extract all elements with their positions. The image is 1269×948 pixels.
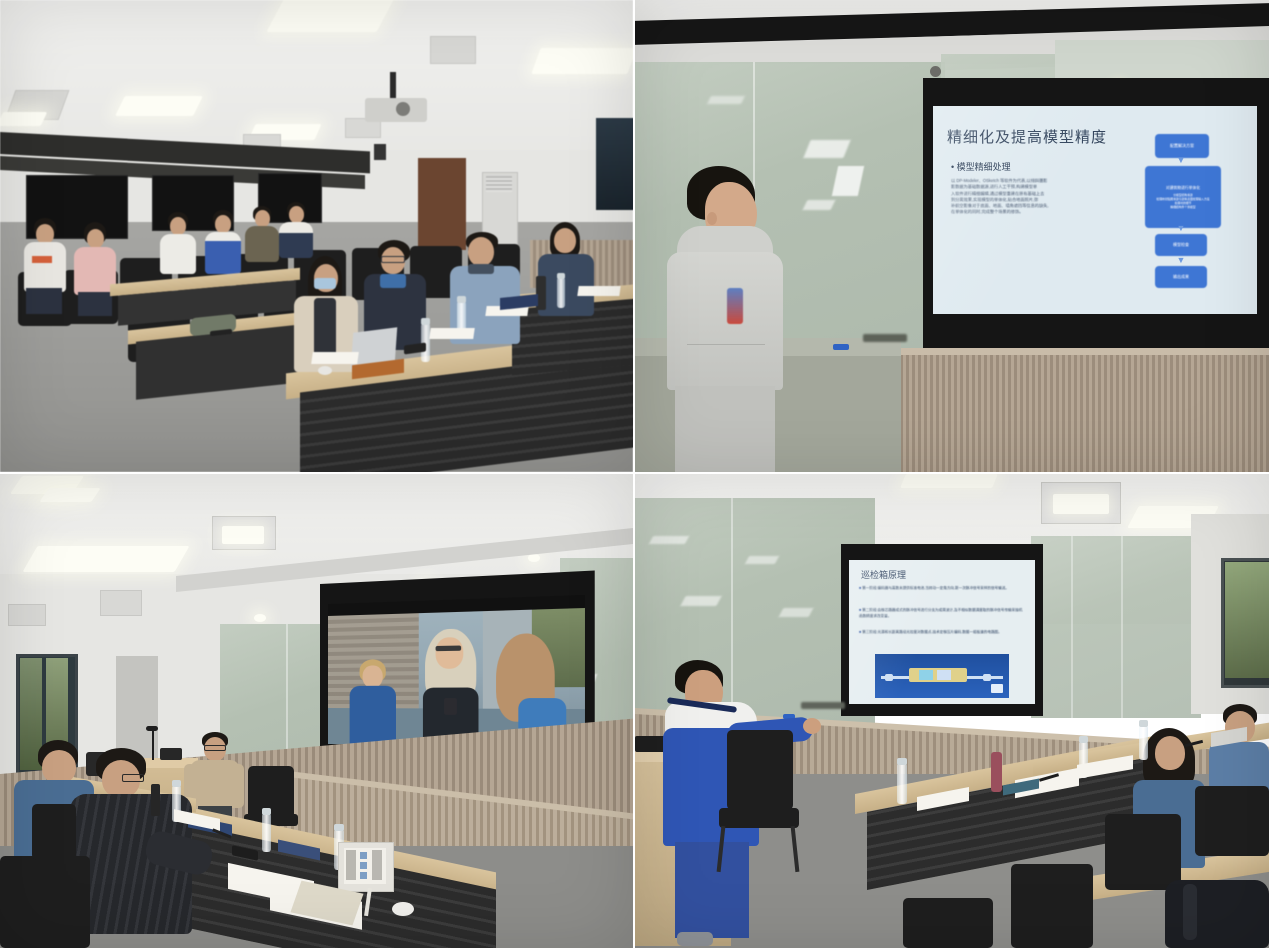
screen-glare xyxy=(933,106,1257,314)
photo-collage: 精细化及提高模型精度 • 模型精细处理 以 DP-Modeler、OSketch… xyxy=(0,0,1269,948)
ceiling-light xyxy=(115,96,203,116)
bottle-cap xyxy=(421,318,430,325)
face-mask xyxy=(314,278,336,289)
torso-navy-jacket xyxy=(538,254,594,316)
person-student-olive-jacket xyxy=(243,206,281,262)
grid-gutter-vertical xyxy=(633,0,635,948)
glasses-icon xyxy=(122,774,144,782)
chair xyxy=(1195,786,1269,856)
ceiling-light xyxy=(1053,494,1109,514)
glass-reflection xyxy=(707,96,745,104)
tablet-screen-thumb xyxy=(360,852,367,859)
ceiling-light xyxy=(531,48,633,74)
water-bottle xyxy=(1139,726,1148,760)
head xyxy=(1155,736,1185,770)
ceiling-vent xyxy=(8,604,46,626)
hand xyxy=(803,718,821,734)
window-glass xyxy=(1225,562,1269,678)
video-person-left xyxy=(350,659,398,745)
ledge-scuff xyxy=(801,702,845,709)
thermos xyxy=(151,784,160,816)
collar xyxy=(468,264,494,274)
glass-seam xyxy=(1121,536,1123,718)
legs-grey-pants xyxy=(675,386,775,474)
hoodie-pocket xyxy=(687,344,765,379)
ceiling-light xyxy=(900,474,998,488)
hoodie-graphic xyxy=(727,288,743,324)
person-student-white-jacket xyxy=(22,218,68,310)
ceiling-light xyxy=(22,546,189,572)
mouse xyxy=(318,366,332,375)
chair xyxy=(0,856,90,948)
torso xyxy=(160,234,196,274)
ceiling-light xyxy=(222,526,264,544)
torso xyxy=(205,232,241,274)
legs xyxy=(78,292,112,316)
head xyxy=(215,215,231,233)
ceiling-spot xyxy=(254,614,266,622)
head xyxy=(255,210,270,227)
glass-partition-wall-right xyxy=(1031,536,1201,718)
chair xyxy=(1105,814,1181,890)
ceiling-light xyxy=(0,112,47,126)
ceiling-vent xyxy=(430,36,476,64)
ac-vent-icon xyxy=(486,176,512,192)
photo-bottom-right: 巡检箱原理 ■ 第一阶段:编码器与高数未提供标准电池,当转动一定角方向,新一次脉… xyxy=(635,474,1269,948)
head xyxy=(87,229,104,248)
bottle-cap xyxy=(897,758,907,765)
photo-top-right: 精细化及提高模型精度 • 模型精细处理 以 DP-Modeler、OSketch… xyxy=(635,0,1269,474)
glass-reflection xyxy=(779,608,814,617)
glasses-icon xyxy=(381,256,405,263)
glass-reflection xyxy=(649,536,689,544)
microphone-head xyxy=(146,726,158,731)
ledge-scuff xyxy=(863,334,907,342)
bottle-cap xyxy=(334,824,344,831)
ceiling-spot xyxy=(528,554,540,562)
legs xyxy=(26,288,62,314)
jacket-stripe xyxy=(32,256,52,263)
photo-bottom-left: 谢谢聆听 Thanks for listening 感谢各位专家、北京交通大学、… xyxy=(0,474,633,948)
wainscot-top-trim xyxy=(897,348,1269,355)
office-chair xyxy=(248,766,294,820)
person-presenter-grey-hoodie xyxy=(663,166,787,474)
torso xyxy=(279,222,313,258)
torso xyxy=(245,226,279,262)
chair xyxy=(1011,864,1093,948)
head xyxy=(170,217,186,235)
bottle-cap xyxy=(457,296,466,303)
water-bottle xyxy=(262,814,271,852)
speaker-icon xyxy=(374,144,386,160)
projector-lens xyxy=(396,102,410,116)
ceiling-spot xyxy=(930,66,941,77)
photo-top-left xyxy=(0,0,633,472)
papers xyxy=(429,328,475,339)
glass-reflection xyxy=(803,140,850,158)
tablet-screen-thumb xyxy=(360,862,367,869)
papers xyxy=(311,352,359,364)
projector-mount xyxy=(390,72,396,100)
video-person-center xyxy=(417,628,483,747)
chair-seat xyxy=(719,808,799,828)
projection-screen: 巡检箱原理 ■ 第一阶段:编码器与高数未提供标准电池,当转动一定角方向,新一次脉… xyxy=(849,560,1035,704)
head xyxy=(36,224,54,244)
water-bottle xyxy=(897,764,907,804)
screen-glare xyxy=(849,560,1035,704)
tablet-screen-sidebar xyxy=(372,850,382,880)
thermos xyxy=(991,752,1002,792)
bottle-cap xyxy=(172,780,181,787)
backpack xyxy=(1165,880,1269,948)
projection-screen: 精细化及提高模型精度 • 模型精细处理 以 DP-Modeler、OSketch… xyxy=(933,106,1257,314)
legs-blue-tracksuit xyxy=(675,842,749,938)
bottle-cap xyxy=(1079,736,1088,743)
window xyxy=(596,118,633,210)
bottle-cap xyxy=(1139,720,1148,727)
head xyxy=(554,228,576,253)
glass-reflection xyxy=(745,556,779,564)
chair xyxy=(903,898,993,948)
glass-reflection xyxy=(803,200,836,210)
head xyxy=(289,206,304,223)
inner-top xyxy=(314,298,336,358)
person-student-blue-tracksuit xyxy=(203,210,243,274)
backpack-strap xyxy=(1183,884,1197,940)
head xyxy=(468,237,494,266)
tablet-screen-thumb xyxy=(360,872,367,879)
blue-object-on-ledge xyxy=(833,344,849,350)
arm-right xyxy=(232,764,244,808)
person-student-white-shirt xyxy=(158,212,198,274)
glass-reflection xyxy=(680,596,721,606)
glass-seam xyxy=(1071,536,1073,718)
tablet-screen-sidebar xyxy=(346,850,356,880)
wood-wainscot xyxy=(897,352,1269,474)
ceiling-light xyxy=(266,0,395,32)
bottle-cap xyxy=(262,808,271,815)
person-student-navy-top xyxy=(277,202,315,258)
torso xyxy=(24,242,66,292)
ceiling-light xyxy=(39,488,100,502)
office-chair xyxy=(727,730,793,810)
chair xyxy=(32,804,76,860)
papers xyxy=(577,286,620,296)
grid-gutter-horizontal xyxy=(0,472,1269,474)
ceiling-vent xyxy=(100,590,142,616)
person-student-pink-hoodie xyxy=(72,222,118,312)
mouse xyxy=(392,902,414,916)
shoe xyxy=(677,932,713,946)
water-bottle xyxy=(557,278,565,308)
glasses-icon xyxy=(204,745,226,751)
bottle-cap xyxy=(557,273,565,279)
ear xyxy=(707,212,717,225)
jacket-collar xyxy=(380,274,406,288)
